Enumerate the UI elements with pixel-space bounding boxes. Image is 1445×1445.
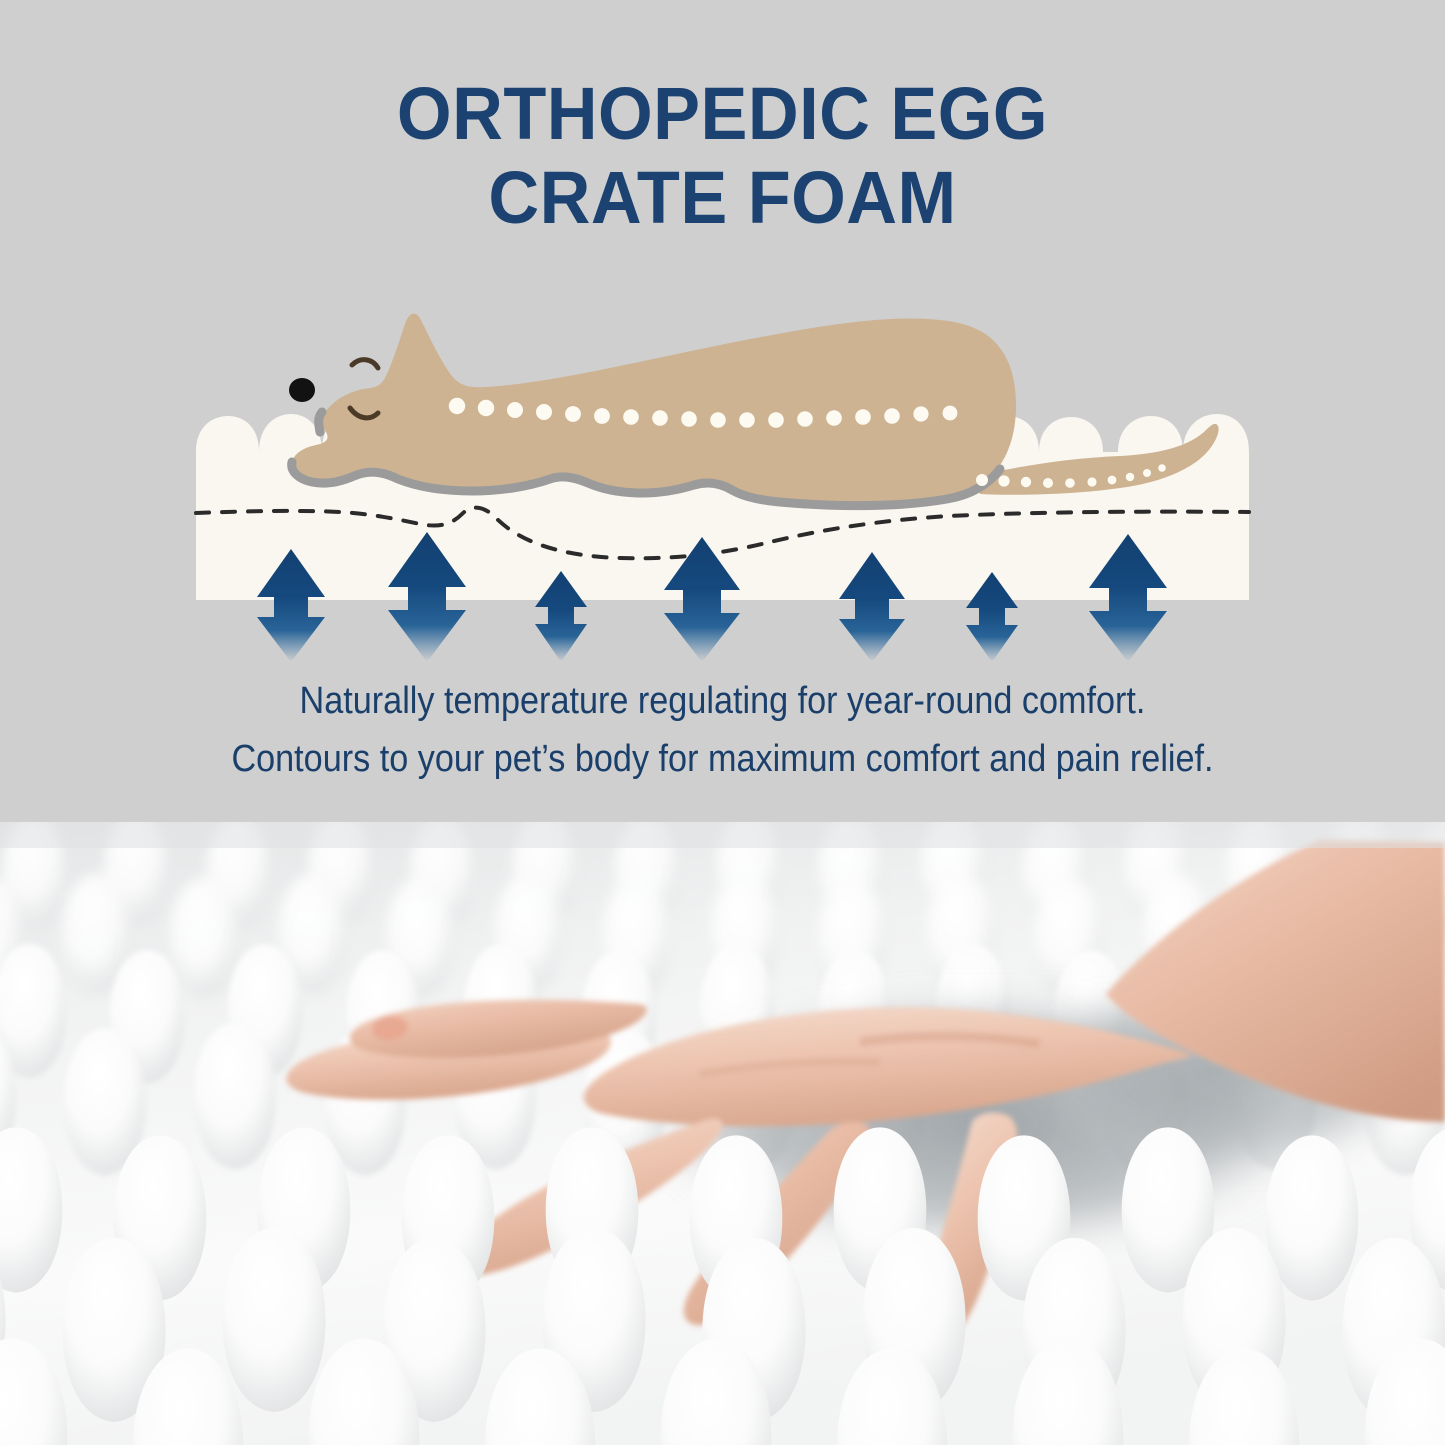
photo-top-blend	[0, 822, 1445, 848]
foam-illustration	[0, 280, 1445, 660]
caption-line-1: Naturally temperature regulating for yea…	[72, 672, 1373, 730]
dog-eye-closed	[352, 360, 378, 368]
infographic-page: ORTHOPEDIC EGG CRATE FOAM	[0, 0, 1445, 1445]
caption-block: Naturally temperature regulating for yea…	[72, 672, 1373, 788]
product-photo	[0, 822, 1445, 1445]
sleeping-dog	[289, 314, 1219, 506]
page-title: ORTHOPEDIC EGG CRATE FOAM	[36, 72, 1409, 240]
dog-nose	[289, 378, 315, 402]
caption-line-2: Contours to your pet’s body for maximum …	[72, 730, 1373, 788]
